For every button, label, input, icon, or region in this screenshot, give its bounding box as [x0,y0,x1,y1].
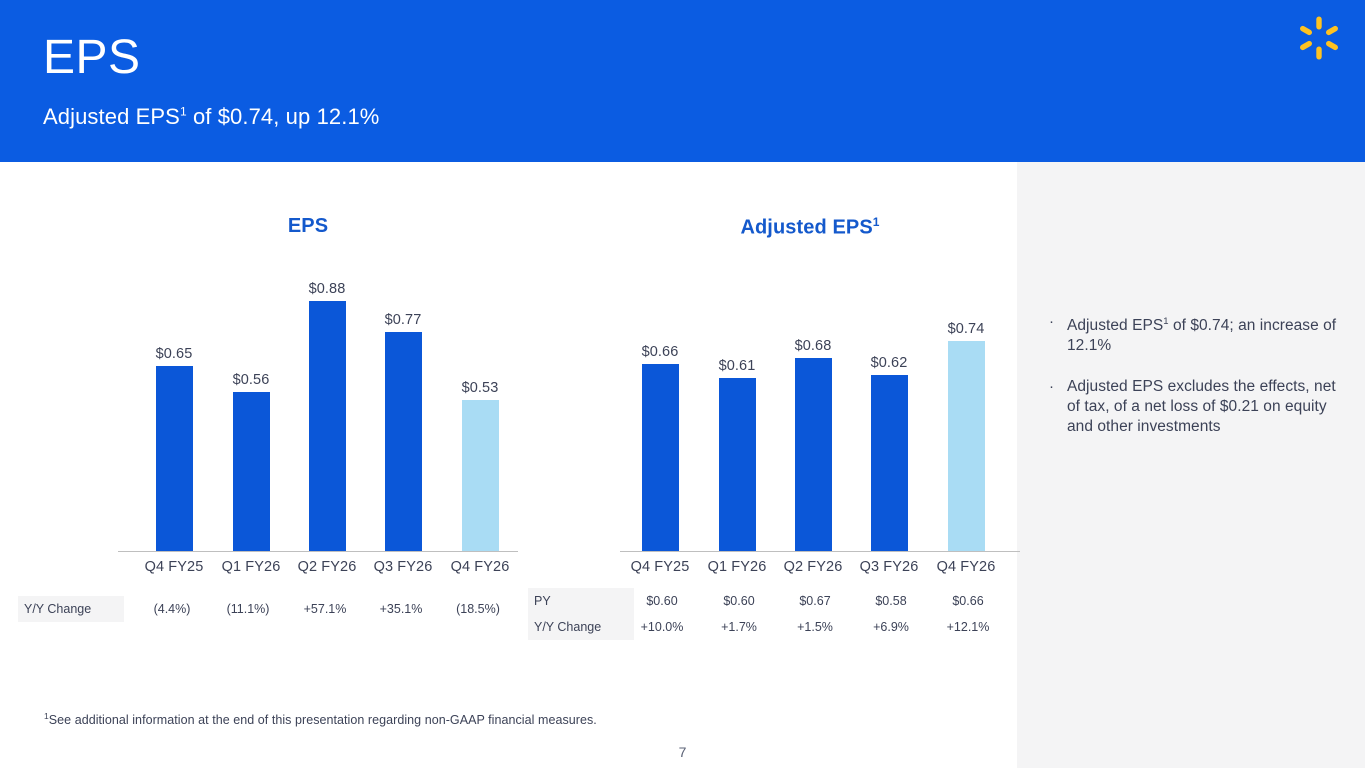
table-adjusted-eps-metrics: PY $0.60 $0.60 $0.67 $0.58 $0.66 Y/Y Cha… [528,588,1016,640]
bar-value-label: $0.77 [365,312,441,328]
bar [871,375,908,551]
x-axis-tick-label: Q1 FY26 [213,559,289,575]
bullet-dot-icon: · [1049,312,1054,332]
x-axis-tick-label: Q4 FY26 [928,559,1004,575]
bullet-text-pre: Adjusted EPS [1067,317,1163,334]
bar-value-label: $0.65 [136,346,212,362]
bullet-list: ·Adjusted EPS1 of $0.74; an increase of … [1047,312,1347,458]
x-axis-tick-label: Q4 FY26 [442,559,518,575]
table-cell: +10.0% [624,614,700,640]
walmart-spark-icon [1295,14,1343,62]
bar [385,332,422,551]
bar-value-label: $0.56 [213,372,289,388]
table-row: PY $0.60 $0.60 $0.67 $0.58 $0.66 [528,588,1016,614]
table-cell: $0.67 [777,588,853,614]
bar-group: $0.62 [851,267,927,551]
table-row-label: Y/Y Change [18,596,124,622]
bar-group: $0.68 [775,267,851,551]
bar-group: $0.61 [699,267,775,551]
table-cell: (11.1%) [210,596,286,622]
x-axis-tick-label: Q4 FY25 [622,559,698,575]
bar-value-label: $0.68 [775,338,851,354]
bar [309,301,346,551]
x-axis-tick-label: Q1 FY26 [699,559,775,575]
bar-value-label: $0.66 [622,344,698,360]
bar-group: $0.65 [136,267,212,551]
bar-group: $0.88 [289,267,365,551]
header-subtitle: Adjusted EPS1 of $0.74, up 12.1% [43,104,379,130]
footnote-text: See additional information at the end of… [49,713,597,727]
x-axis-tick-label: Q2 FY26 [289,559,365,575]
table-cell: $0.60 [624,588,700,614]
bar [642,364,679,551]
bar-group: $0.66 [622,267,698,551]
header-subtitle-prefix: Adjusted EPS [43,104,180,129]
chart-title-superscript: 1 [873,215,880,229]
table-cell: +1.5% [777,614,853,640]
table-cell: +12.1% [930,614,1006,640]
bar [462,400,499,551]
chart-title: Adjusted EPS1 [600,215,1020,240]
header-subtitle-rest: of $0.74, up 12.1% [187,104,380,129]
bar-value-label: $0.62 [851,355,927,371]
x-axis-tick-label: Q4 FY25 [136,559,212,575]
chart-plot-area: $0.65 $0.56 $0.88 $0.77 $0.53 [118,267,518,552]
bar-group: $0.53 [442,267,518,551]
table-cell: (4.4%) [134,596,210,622]
page-number: 7 [0,744,1365,760]
x-axis-labels: Q4 FY25 Q1 FY26 Q2 FY26 Q3 FY26 Q4 FY26 [118,559,518,581]
chart-adjusted-eps: Adjusted EPS1 $0.66 $0.61 $0.68 $0.62 $0… [600,215,1020,575]
bar-group: $0.74 [928,267,1004,551]
bar [948,341,985,551]
list-item: ·Adjusted EPS1 of $0.74; an increase of … [1047,312,1347,356]
page-title: EPS [43,32,141,85]
table-row: Y/Y Change +10.0% +1.7% +1.5% +6.9% +12.… [528,614,1016,640]
table-cell: +1.7% [701,614,777,640]
table-row-label: PY [528,588,634,614]
bullet-text-pre: Adjusted EPS excludes the effects, net o… [1067,378,1336,435]
table-cell: +35.1% [363,596,439,622]
header-subtitle-superscript: 1 [180,105,187,119]
chart-eps: EPS $0.65 $0.56 $0.88 $0.77 $0.53 Q4 FY2… [98,215,518,575]
x-axis-line [118,551,518,552]
table-cell: $0.58 [853,588,929,614]
bar-value-label: $0.74 [928,321,1004,337]
list-item: ·Adjusted EPS excludes the effects, net … [1047,377,1347,437]
commentary-panel: ·Adjusted EPS1 of $0.74; an increase of … [1017,162,1365,768]
table-cell: +57.1% [287,596,363,622]
bar-value-label: $0.61 [699,358,775,374]
table-cell: $0.60 [701,588,777,614]
slide-header: EPS Adjusted EPS1 of $0.74, up 12.1% [0,0,1365,162]
table-row-label: Y/Y Change [528,614,634,640]
bar [795,358,832,551]
slide: EPS Adjusted EPS1 of $0.74, up 12.1% ·Ad… [0,0,1365,768]
x-axis-tick-label: Q3 FY26 [365,559,441,575]
chart-title: EPS [98,215,518,238]
table-row: Y/Y Change (4.4%) (11.1%) +57.1% +35.1% … [18,596,518,622]
bar-value-label: $0.53 [442,380,518,396]
x-axis-tick-label: Q2 FY26 [775,559,851,575]
table-cell: +6.9% [853,614,929,640]
bar-value-label: $0.88 [289,281,365,297]
x-axis-labels: Q4 FY25 Q1 FY26 Q2 FY26 Q3 FY26 Q4 FY26 [620,559,1020,581]
chart-title-text: Adjusted EPS [740,217,872,239]
bar [719,378,756,551]
table-eps-metrics: Y/Y Change (4.4%) (11.1%) +57.1% +35.1% … [18,596,518,622]
chart-plot-area: $0.66 $0.61 $0.68 $0.62 $0.74 [620,267,1020,552]
bullet-dot-icon: · [1049,377,1054,397]
bar-group: $0.56 [213,267,289,551]
bar-group: $0.77 [365,267,441,551]
table-cell: (18.5%) [440,596,516,622]
footnote: 1See additional information at the end o… [44,711,597,727]
x-axis-line [620,551,1020,552]
table-cell: $0.66 [930,588,1006,614]
bar [156,366,193,551]
x-axis-tick-label: Q3 FY26 [851,559,927,575]
bar [233,392,270,551]
chart-title-text: EPS [288,215,328,237]
